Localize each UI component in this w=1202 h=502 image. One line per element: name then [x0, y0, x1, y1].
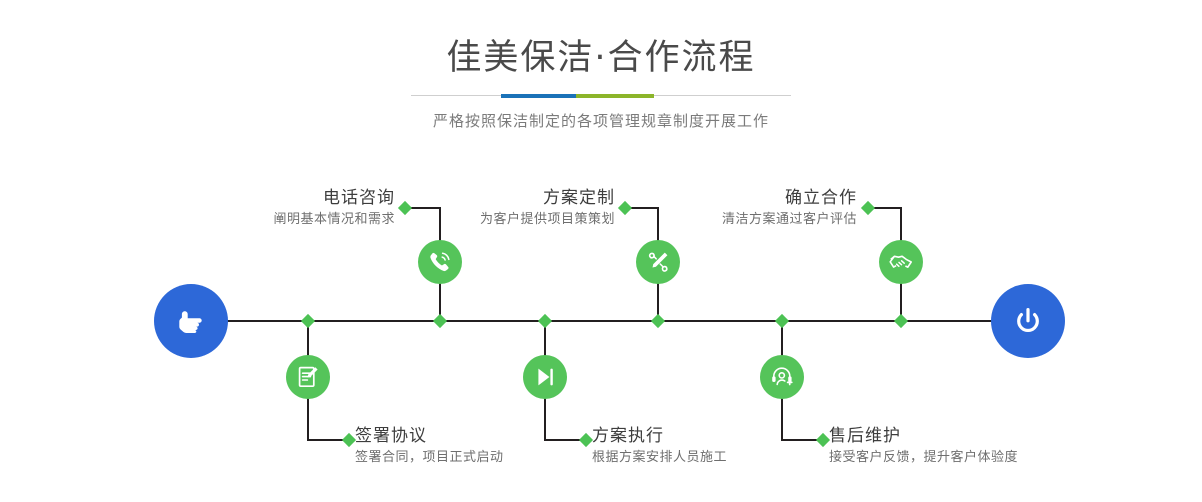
axis-diamond-step-2	[301, 314, 315, 328]
power-icon	[1008, 301, 1048, 341]
step-desc-3: 为客户提供项目策策划	[400, 210, 615, 230]
step-label-3: 方案定制 为客户提供项目策策划	[400, 186, 615, 230]
timeline-end-endpoint	[991, 284, 1065, 358]
connector-diamond-step-4	[579, 433, 593, 447]
connector-diamond-step-3	[618, 201, 632, 215]
step-label-4: 方案执行 根据方案安排人员施工	[592, 424, 727, 468]
phone-call-icon	[427, 249, 453, 275]
axis-diamond-step-6	[775, 314, 789, 328]
step-desc-2: 签署合同，项目正式启动	[355, 448, 504, 468]
step-desc-1: 阐明基本情况和需求	[150, 210, 395, 230]
step-title-1: 电话咨询	[150, 186, 395, 210]
step-label-5: 确立合作 清洁方案通过客户评估	[645, 186, 857, 230]
axis-diamond-step-1	[433, 314, 447, 328]
step-desc-5: 清洁方案通过客户评估	[645, 210, 857, 230]
step-icon-5[interactable]	[879, 240, 923, 284]
step-title-3: 方案定制	[400, 186, 615, 210]
timeline-start-endpoint	[154, 284, 228, 358]
step-icon-1[interactable]	[418, 240, 462, 284]
axis-diamond-step-5	[894, 314, 908, 328]
step-icon-6[interactable]	[760, 355, 804, 399]
step-icon-4[interactable]	[523, 355, 567, 399]
step-label-2: 签署协议 签署合同，项目正式启动	[355, 424, 504, 468]
flow-diagram-page: 佳美保洁·合作流程 严格按照保洁制定的各项管理规章制度开展工作	[0, 0, 1202, 502]
connector-diamond-step-6	[816, 433, 830, 447]
pointing-hand-icon	[171, 301, 211, 341]
handshake-icon	[888, 249, 914, 275]
step-icon-3[interactable]	[636, 240, 680, 284]
step-title-6: 售后维护	[829, 424, 1018, 448]
customer-service-icon	[769, 364, 795, 390]
step-label-1: 电话咨询 阐明基本情况和需求	[150, 186, 395, 230]
step-icon-2[interactable]	[286, 355, 330, 399]
axis-diamond-step-3	[651, 314, 665, 328]
axis-diamond-step-4	[538, 314, 552, 328]
play-execute-icon	[532, 364, 558, 390]
pencil-design-icon	[645, 249, 671, 275]
step-title-2: 签署协议	[355, 424, 504, 448]
step-title-5: 确立合作	[645, 186, 857, 210]
step-title-4: 方案执行	[592, 424, 727, 448]
process-timeline: 电话咨询 阐明基本情况和需求 签署协议 签署合同，项目正式启动	[0, 0, 1202, 502]
step-desc-6: 接受客户反馈，提升客户体验度	[829, 448, 1018, 468]
connector-diamond-step-2	[342, 433, 356, 447]
document-edit-icon	[295, 364, 321, 390]
step-desc-4: 根据方案安排人员施工	[592, 448, 727, 468]
step-label-6: 售后维护 接受客户反馈，提升客户体验度	[829, 424, 1018, 468]
connector-diamond-step-5	[861, 201, 875, 215]
